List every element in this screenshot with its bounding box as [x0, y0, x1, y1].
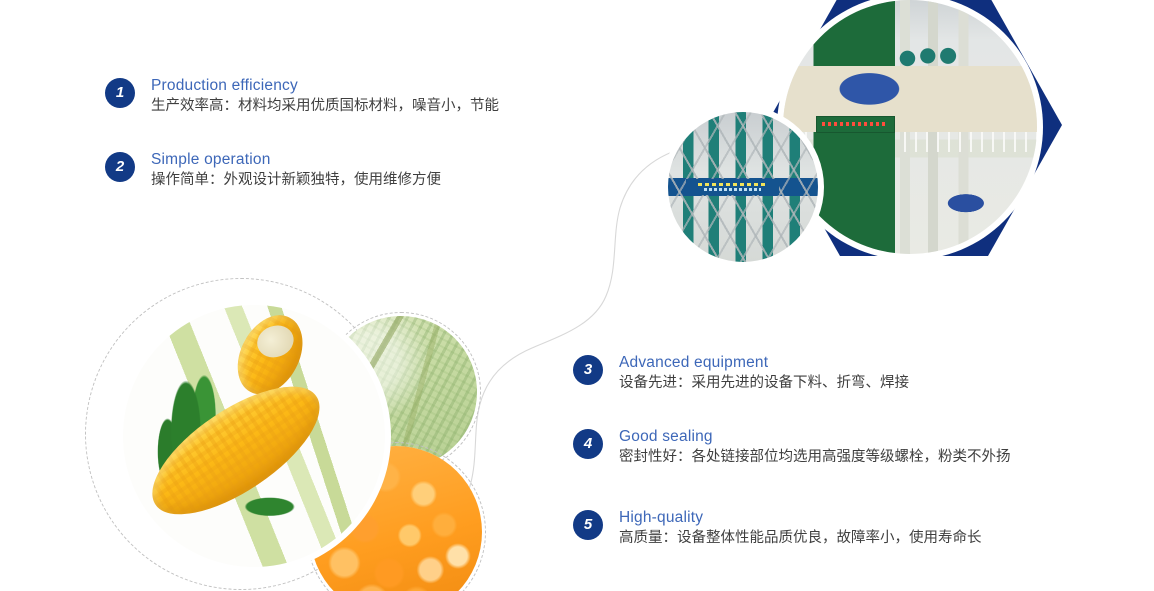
- feature-title-4: Good sealing: [619, 427, 1011, 446]
- feature-title-1: Production efficiency: [151, 76, 499, 95]
- feature-badge-3: 3: [573, 355, 603, 385]
- feature-badge-1: 1: [105, 78, 135, 108]
- feature-description-3: 设备先进：采用先进的设备下料、折弯、焊接: [619, 373, 909, 394]
- feature-title-5: High-quality: [619, 508, 982, 527]
- feature-text-4: Good sealing 密封性好：各处链接部位均选用高强度等级螺栓，粉类不外扬: [619, 427, 1011, 468]
- feature-text-5: High-quality 高质量：设备整体性能品质优良，故障率小，使用寿命长: [619, 508, 982, 549]
- feature-description-1: 生产效率高：材料均采用优质国标材料，噪音小，节能: [151, 96, 499, 117]
- corn-cob-front: [133, 363, 339, 539]
- feature-description-4: 密封性好：各处链接部位均选用高强度等级螺栓，粉类不外扬: [619, 447, 1011, 468]
- feature-description-2: 操作简单：外观设计新颖独特，使用维修方便: [151, 170, 441, 191]
- feature-item-4[interactable]: 4 Good sealing 密封性好：各处链接部位均选用高强度等级螺栓，粉类不…: [573, 427, 1011, 468]
- product-advantages-infographic: 1 Production efficiency 生产效率高：材料均采用优质国标材…: [0, 0, 1154, 591]
- corn-photo-art: [123, 305, 385, 567]
- teal-milling-machinery-photo: [668, 112, 818, 262]
- feature-badge-4: 4: [573, 429, 603, 459]
- feature-badge-2: 2: [105, 152, 135, 182]
- feature-description-5: 高质量：设备整体性能品质优良，故障率小，使用寿命长: [619, 528, 982, 549]
- feature-text-1: Production efficiency 生产效率高：材料均采用优质国标材料，…: [151, 76, 499, 117]
- feature-badge-5: 5: [573, 510, 603, 540]
- top-photo-cluster: [620, 0, 1154, 294]
- feature-title-3: Advanced equipment: [619, 353, 909, 372]
- feature-text-2: Simple operation 操作简单：外观设计新颖独特，使用维修方便: [151, 150, 441, 191]
- feature-item-1[interactable]: 1 Production efficiency 生产效率高：材料均采用优质国标材…: [105, 76, 499, 117]
- feature-item-3[interactable]: 3 Advanced equipment 设备先进：采用先进的设备下料、折弯、焊…: [573, 353, 909, 394]
- factory-banner: [816, 116, 895, 134]
- feature-item-2[interactable]: 2 Simple operation 操作简单：外观设计新颖独特，使用维修方便: [105, 150, 441, 191]
- small-factory-banner: [686, 179, 779, 196]
- corn-cob-photo: [123, 305, 385, 567]
- flour-milling-plant-photo: [783, 0, 1037, 254]
- feature-title-2: Simple operation: [151, 150, 441, 169]
- feature-text-3: Advanced equipment 设备先进：采用先进的设备下料、折弯、焊接: [619, 353, 909, 394]
- feature-item-5[interactable]: 5 High-quality 高质量：设备整体性能品质优良，故障率小，使用寿命长: [573, 508, 982, 549]
- bottom-photo-cluster: [85, 278, 505, 591]
